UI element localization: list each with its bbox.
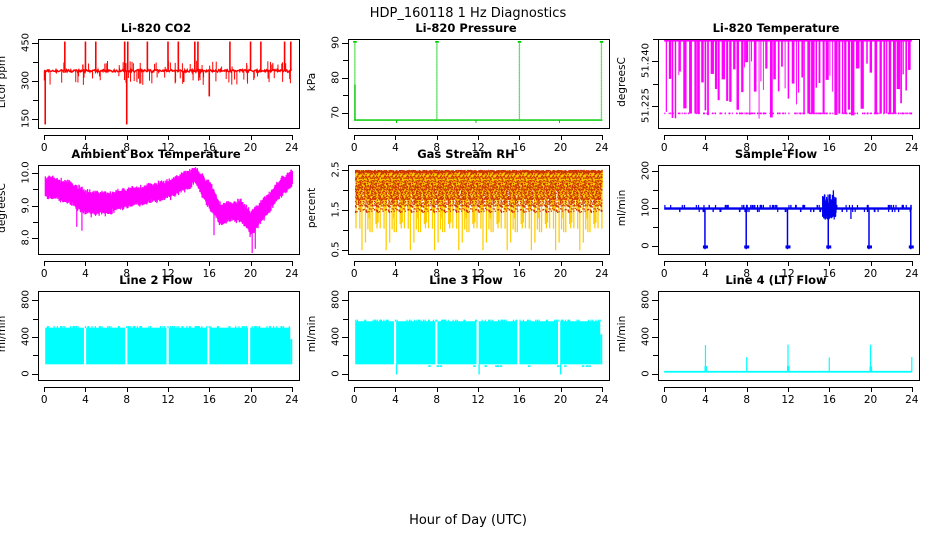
x-tick-mark xyxy=(395,261,396,266)
x-tick-mark xyxy=(292,135,293,140)
y-tick-label: 0 xyxy=(641,353,652,393)
y-tick-label: 90 xyxy=(331,22,342,62)
x-tick-mark xyxy=(292,387,293,392)
y-axis-label: ml/min xyxy=(306,289,318,379)
series-plot xyxy=(39,166,298,253)
x-tick-mark xyxy=(829,135,830,140)
x-tick-mark xyxy=(127,261,128,266)
y-minor-tick xyxy=(33,206,38,207)
x-tick-label: 24 xyxy=(587,394,617,406)
panel-title: Li-820 CO2 xyxy=(0,21,312,35)
panel-title: Line 2 Flow xyxy=(0,273,312,287)
x-tick-label: 24 xyxy=(897,394,927,406)
y-axis-label: degreesC xyxy=(0,163,8,253)
y-minor-tick xyxy=(33,355,38,356)
x-tick-label: 0 xyxy=(649,394,679,406)
y-tick-label: 400 xyxy=(641,316,652,356)
x-tick-label: 4 xyxy=(690,394,720,406)
y-tick-label: 51.240 xyxy=(641,41,652,81)
x-tick-label: 4 xyxy=(70,394,100,406)
y-tick-label: 0.5 xyxy=(331,229,342,269)
y-axis-label: ml/min xyxy=(616,163,628,253)
y-tick-label: 300 xyxy=(21,61,32,101)
x-tick-mark xyxy=(747,261,748,266)
x-tick-mark xyxy=(664,387,665,392)
y-minor-tick xyxy=(343,210,348,211)
panel-ambient-box-temperature: Ambient Box Temperature8.09.010.0degrees… xyxy=(0,148,312,272)
x-tick-mark xyxy=(395,387,396,392)
y-minor-tick xyxy=(653,319,658,320)
x-tick-mark xyxy=(705,387,706,392)
y-minor-tick xyxy=(33,238,38,239)
y-minor-tick xyxy=(343,374,348,375)
y-minor-tick xyxy=(33,222,38,223)
y-minor-tick xyxy=(33,43,38,44)
y-tick-label: 400 xyxy=(331,316,342,356)
x-tick-mark xyxy=(437,135,438,140)
series-plot xyxy=(659,166,918,253)
panel-li-820-co2: Li-820 CO2150300450Licor ppm04812162024 xyxy=(0,22,312,146)
series-clip xyxy=(349,292,608,379)
y-minor-tick xyxy=(653,61,658,62)
series-plot xyxy=(659,40,918,127)
y-minor-tick xyxy=(343,60,348,61)
y-minor-tick xyxy=(343,78,348,79)
panel-li-820-pressure: Li-820 Pressure708090kPa04812162024 xyxy=(310,22,622,146)
series-clip xyxy=(349,40,608,127)
x-tick-mark xyxy=(829,387,830,392)
series-plot xyxy=(349,40,608,127)
panel-title: Li-820 Temperature xyxy=(620,21,932,35)
y-minor-tick xyxy=(343,337,348,338)
y-tick-label: 10.0 xyxy=(21,153,32,193)
y-minor-tick xyxy=(653,171,658,172)
page-title: HDP_160118 1 Hz Diagnostics xyxy=(0,6,936,21)
x-tick-label: 20 xyxy=(236,394,266,406)
x-tick-mark xyxy=(871,387,872,392)
x-tick-mark xyxy=(44,261,45,266)
x-tick-mark xyxy=(788,135,789,140)
x-tick-label: 24 xyxy=(277,394,307,406)
x-tick-mark xyxy=(871,135,872,140)
y-minor-tick xyxy=(33,62,38,63)
panel-title: Line 3 Flow xyxy=(310,273,622,287)
x-tick-mark xyxy=(478,135,479,140)
x-tick-mark xyxy=(292,261,293,266)
y-minor-tick xyxy=(653,106,658,107)
y-minor-tick xyxy=(343,190,348,191)
x-tick-mark xyxy=(519,135,520,140)
x-tick-mark xyxy=(705,261,706,266)
y-minor-tick xyxy=(653,300,658,301)
x-tick-label: 0 xyxy=(29,394,59,406)
series-plot xyxy=(659,292,918,379)
x-tick-label: 12 xyxy=(773,394,803,406)
x-tick-mark xyxy=(519,261,520,266)
y-minor-tick xyxy=(343,319,348,320)
x-tick-label: 16 xyxy=(194,394,224,406)
y-minor-tick xyxy=(653,246,658,247)
y-tick-label: 200 xyxy=(641,150,652,190)
y-tick-label: 70 xyxy=(331,92,342,132)
x-tick-mark xyxy=(437,261,438,266)
x-tick-mark xyxy=(705,135,706,140)
y-minor-tick xyxy=(653,208,658,209)
x-tick-label: 20 xyxy=(546,394,576,406)
y-minor-tick xyxy=(33,173,38,174)
y-minor-tick xyxy=(653,84,658,85)
y-minor-tick xyxy=(33,100,38,101)
x-tick-mark xyxy=(788,261,789,266)
x-tick-mark xyxy=(664,135,665,140)
panel-li-820-temperature: Li-820 Temperature51.22551.240degreesC04… xyxy=(620,22,932,146)
x-tick-mark xyxy=(829,261,830,266)
x-tick-mark xyxy=(561,135,562,140)
series-clip xyxy=(39,292,298,379)
panel-title: Ambient Box Temperature xyxy=(0,147,312,161)
x-tick-mark xyxy=(251,261,252,266)
series-clip xyxy=(659,166,918,253)
series-plot xyxy=(39,292,298,379)
y-minor-tick xyxy=(33,337,38,338)
y-minor-tick xyxy=(343,113,348,114)
y-minor-tick xyxy=(33,300,38,301)
y-minor-tick xyxy=(653,374,658,375)
panel-line-4-lt-flow: Line 4 (LT) Flow0400800ml/min04812162024 xyxy=(620,274,932,398)
y-axis-label: ml/min xyxy=(0,289,8,379)
x-tick-mark xyxy=(354,261,355,266)
x-tick-mark xyxy=(168,387,169,392)
y-minor-tick xyxy=(653,337,658,338)
x-tick-mark xyxy=(209,261,210,266)
y-minor-tick xyxy=(343,355,348,356)
series-plot xyxy=(39,40,298,127)
x-tick-mark xyxy=(44,135,45,140)
x-tick-mark xyxy=(561,261,562,266)
x-tick-mark xyxy=(664,261,665,266)
panel-line-2-flow: Line 2 Flow0400800ml/min04812162024 xyxy=(0,274,312,398)
x-tick-mark xyxy=(354,387,355,392)
x-tick-mark xyxy=(168,135,169,140)
y-tick-label: 400 xyxy=(21,316,32,356)
x-tick-mark xyxy=(871,261,872,266)
series-plot xyxy=(349,166,608,253)
panel-sample-flow: Sample Flow0100200ml/min04812162024 xyxy=(620,148,932,272)
x-tick-label: 8 xyxy=(112,394,142,406)
x-tick-mark xyxy=(44,387,45,392)
x-tick-mark xyxy=(168,261,169,266)
x-tick-mark xyxy=(912,387,913,392)
x-tick-mark xyxy=(251,387,252,392)
y-tick-label: 800 xyxy=(641,280,652,320)
y-minor-tick xyxy=(343,43,348,44)
x-tick-label: 20 xyxy=(856,394,886,406)
x-tick-label: 0 xyxy=(339,394,369,406)
x-tick-mark xyxy=(209,387,210,392)
y-minor-tick xyxy=(33,374,38,375)
panel-title: Li-820 Pressure xyxy=(310,21,622,35)
x-tick-mark xyxy=(561,387,562,392)
y-tick-label: 0 xyxy=(641,226,652,266)
series-plot xyxy=(349,292,608,379)
x-tick-mark xyxy=(127,135,128,140)
x-tick-mark xyxy=(478,387,479,392)
x-tick-mark xyxy=(912,261,913,266)
x-tick-label: 4 xyxy=(380,394,410,406)
y-minor-tick xyxy=(33,81,38,82)
y-minor-tick xyxy=(33,319,38,320)
y-axis-label: kPa xyxy=(306,37,318,127)
y-tick-label: 150 xyxy=(21,99,32,139)
x-tick-label: 8 xyxy=(732,394,762,406)
series-clip xyxy=(39,40,298,127)
x-tick-mark xyxy=(747,387,748,392)
series-clip xyxy=(659,40,918,127)
x-tick-mark xyxy=(519,387,520,392)
x-tick-mark xyxy=(395,135,396,140)
x-tick-mark xyxy=(209,135,210,140)
y-tick-label: 51.225 xyxy=(641,86,652,126)
x-tick-label: 16 xyxy=(504,394,534,406)
x-tick-mark xyxy=(437,387,438,392)
y-minor-tick xyxy=(33,189,38,190)
y-minor-tick xyxy=(653,190,658,191)
panel-title: Sample Flow xyxy=(620,147,932,161)
series-clip xyxy=(349,166,608,253)
x-tick-mark xyxy=(85,387,86,392)
x-tick-label: 12 xyxy=(153,394,183,406)
x-tick-label: 12 xyxy=(463,394,493,406)
x-tick-mark xyxy=(602,387,603,392)
y-tick-label: 800 xyxy=(21,280,32,320)
y-minor-tick xyxy=(343,170,348,171)
y-minor-tick xyxy=(343,95,348,96)
x-tick-mark xyxy=(127,387,128,392)
x-tick-mark xyxy=(602,135,603,140)
y-tick-label: 1.5 xyxy=(331,189,342,229)
x-tick-label: 16 xyxy=(814,394,844,406)
x-tick-mark xyxy=(602,261,603,266)
panel-gas-stream-rh: Gas Stream RH0.51.52.5percent04812162024 xyxy=(310,148,622,272)
y-minor-tick xyxy=(653,355,658,356)
y-minor-tick xyxy=(343,250,348,251)
x-tick-mark xyxy=(354,135,355,140)
y-axis-label: percent xyxy=(306,163,318,253)
y-tick-label: 0 xyxy=(331,353,342,393)
diagnostics-figure: HDP_160118 1 Hz Diagnostics Hour of Day … xyxy=(0,0,936,540)
x-tick-mark xyxy=(85,135,86,140)
panel-title: Line 4 (LT) Flow xyxy=(620,273,932,287)
y-tick-label: 100 xyxy=(641,188,652,228)
y-minor-tick xyxy=(653,39,658,40)
x-tick-mark xyxy=(478,261,479,266)
x-tick-mark xyxy=(747,135,748,140)
x-tick-mark xyxy=(912,135,913,140)
x-tick-label: 8 xyxy=(422,394,452,406)
y-minor-tick xyxy=(343,300,348,301)
series-clip xyxy=(39,166,298,253)
y-axis-label: Licor ppm xyxy=(0,37,8,127)
x-tick-mark xyxy=(788,387,789,392)
y-tick-label: 450 xyxy=(21,22,32,62)
y-minor-tick xyxy=(653,227,658,228)
y-axis-label: degreesC xyxy=(616,37,628,127)
series-clip xyxy=(659,292,918,379)
y-minor-tick xyxy=(343,230,348,231)
y-axis-label: ml/min xyxy=(616,289,628,379)
y-tick-label: 0 xyxy=(21,353,32,393)
panel-line-3-flow: Line 3 Flow0400800ml/min04812162024 xyxy=(310,274,622,398)
global-x-axis-label: Hour of Day (UTC) xyxy=(0,513,936,528)
panel-title: Gas Stream RH xyxy=(310,147,622,161)
x-tick-mark xyxy=(85,261,86,266)
y-minor-tick xyxy=(33,119,38,120)
y-tick-label: 800 xyxy=(331,280,342,320)
y-tick-label: 80 xyxy=(331,57,342,97)
x-tick-mark xyxy=(251,135,252,140)
y-tick-label: 2.5 xyxy=(331,149,342,189)
